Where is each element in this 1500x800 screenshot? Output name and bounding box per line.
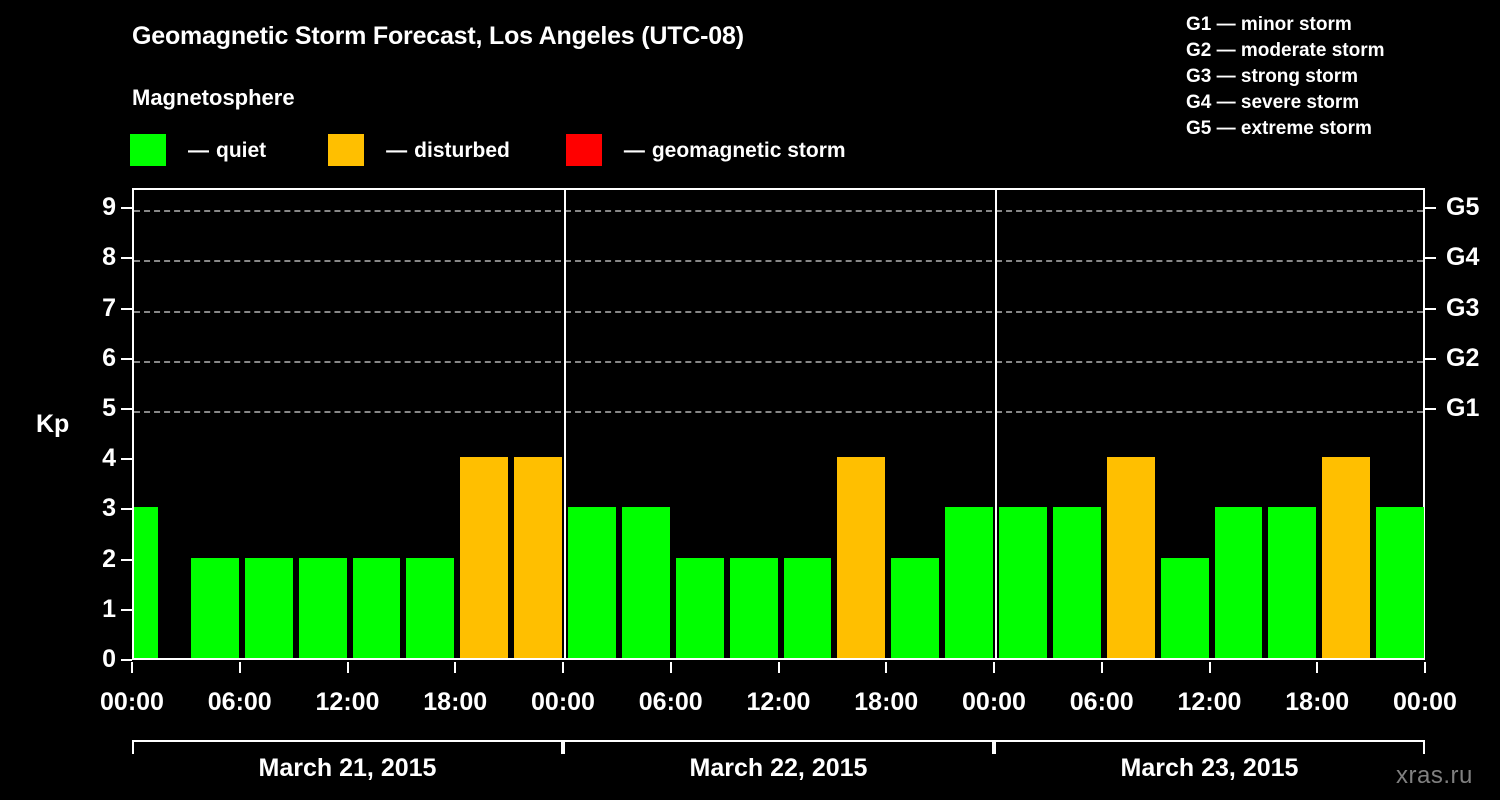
plot-area bbox=[132, 188, 1425, 660]
legend-label-storm: geomagnetic storm bbox=[652, 140, 846, 161]
bar-quiet[interactable] bbox=[1376, 507, 1424, 658]
g-tick-label-G5: G5 bbox=[1446, 195, 1479, 220]
x-tick-mark bbox=[993, 662, 995, 673]
bar-quiet[interactable] bbox=[730, 558, 778, 658]
date-label: March 21, 2015 bbox=[259, 754, 437, 783]
day-divider bbox=[995, 190, 997, 658]
bar-quiet[interactable] bbox=[406, 558, 454, 658]
legend-dash: — bbox=[386, 140, 407, 161]
x-tick-mark bbox=[1101, 662, 1103, 673]
x-tick-mark bbox=[347, 662, 349, 673]
bar-quiet[interactable] bbox=[999, 507, 1047, 658]
bar-quiet[interactable] bbox=[134, 507, 158, 658]
bar-quiet[interactable] bbox=[1215, 507, 1263, 658]
legend-label-quiet: quiet bbox=[216, 140, 266, 161]
g-legend-row: G4 — severe storm bbox=[1186, 90, 1486, 116]
date-bracket bbox=[994, 740, 1425, 754]
x-tick-mark bbox=[131, 662, 133, 673]
disturbed-swatch-icon bbox=[328, 134, 364, 166]
y-tick-label-7: 7 bbox=[76, 296, 116, 321]
bar-quiet[interactable] bbox=[622, 507, 670, 658]
bar-quiet[interactable] bbox=[353, 558, 401, 658]
y-tick-label-8: 8 bbox=[76, 245, 116, 270]
g-tick-label-G3: G3 bbox=[1446, 296, 1479, 321]
y-tick-label-9: 9 bbox=[76, 195, 116, 220]
y-tick-mark-5 bbox=[121, 408, 132, 410]
y-tick-label-0: 0 bbox=[76, 647, 116, 672]
gridline-kp-6 bbox=[134, 361, 1423, 363]
x-tick-label: 12:00 bbox=[747, 688, 811, 717]
y-tick-mark-3 bbox=[121, 508, 132, 510]
g-tick-label-G1: G1 bbox=[1446, 396, 1479, 421]
gridline-kp-7 bbox=[134, 311, 1423, 313]
y-tick-mark-0 bbox=[121, 659, 132, 661]
bar-quiet[interactable] bbox=[945, 507, 993, 658]
color-legend: — quiet — disturbed — geomagnetic storm bbox=[130, 133, 846, 167]
bar-quiet[interactable] bbox=[891, 558, 939, 658]
bar-quiet[interactable] bbox=[676, 558, 724, 658]
g-tick-mark-G5 bbox=[1425, 207, 1436, 209]
y-tick-mark-8 bbox=[121, 257, 132, 259]
x-tick-label: 12:00 bbox=[316, 688, 380, 717]
bar-quiet[interactable] bbox=[568, 507, 616, 658]
gridline-kp-9 bbox=[134, 210, 1423, 212]
x-tick-label: 00:00 bbox=[100, 688, 164, 717]
y-tick-label-4: 4 bbox=[76, 446, 116, 471]
y-tick-mark-4 bbox=[121, 458, 132, 460]
g-legend-row: G1 — minor storm bbox=[1186, 12, 1486, 38]
g-tick-mark-G2 bbox=[1425, 358, 1436, 360]
x-tick-label: 06:00 bbox=[1070, 688, 1134, 717]
x-tick-label: 18:00 bbox=[1285, 688, 1349, 717]
y-tick-label-6: 6 bbox=[76, 346, 116, 371]
y-tick-mark-1 bbox=[121, 609, 132, 611]
bar-disturbed[interactable] bbox=[460, 457, 508, 658]
date-bracket bbox=[563, 740, 994, 754]
x-tick-mark bbox=[885, 662, 887, 673]
x-tick-label: 12:00 bbox=[1178, 688, 1242, 717]
x-tick-label: 06:00 bbox=[639, 688, 703, 717]
bar-quiet[interactable] bbox=[1161, 558, 1209, 658]
bar-disturbed[interactable] bbox=[514, 457, 562, 658]
bar-quiet[interactable] bbox=[299, 558, 347, 658]
g-tick-label-G2: G2 bbox=[1446, 346, 1479, 371]
x-tick-label: 06:00 bbox=[208, 688, 272, 717]
gridline-kp-8 bbox=[134, 260, 1423, 262]
g-tick-mark-G3 bbox=[1425, 308, 1436, 310]
x-tick-mark bbox=[778, 662, 780, 673]
gridline-kp-5 bbox=[134, 411, 1423, 413]
x-tick-label: 00:00 bbox=[1393, 688, 1457, 717]
legend-entry-storm: — geomagnetic storm bbox=[566, 133, 846, 167]
g-legend-row: G5 — extreme storm bbox=[1186, 116, 1486, 142]
bar-quiet[interactable] bbox=[1268, 507, 1316, 658]
bar-disturbed[interactable] bbox=[837, 457, 885, 658]
x-tick-mark bbox=[670, 662, 672, 673]
x-tick-label: 18:00 bbox=[854, 688, 918, 717]
bar-disturbed[interactable] bbox=[1322, 457, 1370, 658]
day-divider bbox=[564, 190, 566, 658]
legend-dash: — bbox=[188, 140, 209, 161]
g-tick-mark-G4 bbox=[1425, 257, 1436, 259]
y-axis-title: Kp bbox=[36, 410, 69, 439]
g-scale-legend: G1 — minor storm G2 — moderate storm G3 … bbox=[1186, 12, 1486, 142]
x-tick-mark bbox=[1209, 662, 1211, 673]
watermark: xras.ru bbox=[1396, 762, 1473, 790]
legend-label-disturbed: disturbed bbox=[414, 140, 510, 161]
g-tick-label-G4: G4 bbox=[1446, 245, 1479, 270]
y-tick-label-2: 2 bbox=[76, 547, 116, 572]
bar-quiet[interactable] bbox=[1053, 507, 1101, 658]
bar-quiet[interactable] bbox=[191, 558, 239, 658]
y-tick-mark-6 bbox=[121, 358, 132, 360]
y-tick-mark-7 bbox=[121, 308, 132, 310]
chart-subtitle: Magnetosphere bbox=[132, 85, 295, 111]
y-tick-label-1: 1 bbox=[76, 597, 116, 622]
y-tick-label-5: 5 bbox=[76, 396, 116, 421]
y-tick-mark-9 bbox=[121, 207, 132, 209]
bar-quiet[interactable] bbox=[245, 558, 293, 658]
date-label: March 23, 2015 bbox=[1121, 754, 1299, 783]
x-tick-mark bbox=[1316, 662, 1318, 673]
page-title: Geomagnetic Storm Forecast, Los Angeles … bbox=[132, 22, 744, 51]
date-bracket bbox=[132, 740, 563, 754]
storm-swatch-icon bbox=[566, 134, 602, 166]
x-tick-mark bbox=[1424, 662, 1426, 673]
bar-quiet[interactable] bbox=[784, 558, 832, 658]
date-label: March 22, 2015 bbox=[690, 754, 868, 783]
x-tick-mark bbox=[239, 662, 241, 673]
x-tick-label: 00:00 bbox=[531, 688, 595, 717]
x-tick-label: 00:00 bbox=[962, 688, 1026, 717]
bar-disturbed[interactable] bbox=[1107, 457, 1155, 658]
legend-entry-disturbed: — disturbed bbox=[328, 133, 510, 167]
x-tick-mark bbox=[454, 662, 456, 673]
y-tick-label-3: 3 bbox=[76, 496, 116, 521]
g-legend-row: G2 — moderate storm bbox=[1186, 38, 1486, 64]
quiet-swatch-icon bbox=[130, 134, 166, 166]
legend-entry-quiet: — quiet bbox=[130, 133, 266, 167]
g-legend-row: G3 — strong storm bbox=[1186, 64, 1486, 90]
legend-dash: — bbox=[624, 140, 645, 161]
g-tick-mark-G1 bbox=[1425, 408, 1436, 410]
x-tick-mark bbox=[562, 662, 564, 673]
y-tick-mark-2 bbox=[121, 559, 132, 561]
x-tick-label: 18:00 bbox=[423, 688, 487, 717]
